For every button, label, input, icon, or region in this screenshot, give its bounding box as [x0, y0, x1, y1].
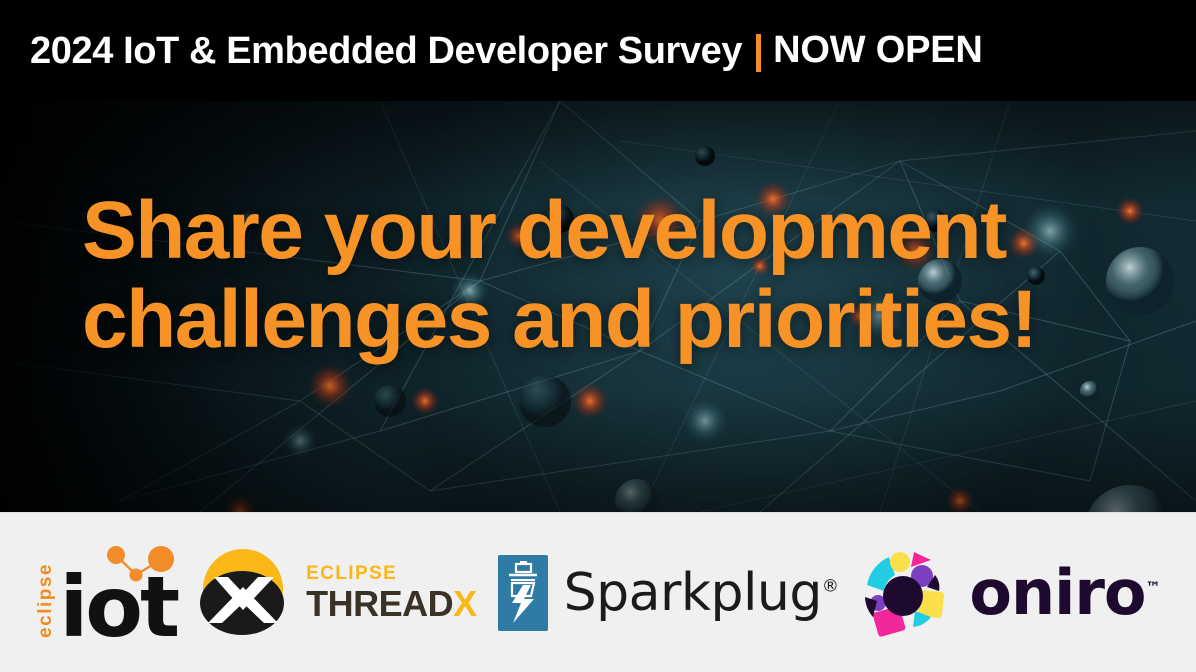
- logo-sparkplug[interactable]: Sparkplug®: [498, 555, 839, 631]
- header-divider-icon: [756, 34, 761, 72]
- threadx-main-word: THREAD: [306, 583, 453, 624]
- sparkplug-main-word: Sparkplug: [564, 563, 822, 623]
- headline-line-2: challenges and priorities!: [82, 276, 1036, 365]
- page-title: 2024 IoT & Embedded Developer Survey: [30, 32, 742, 70]
- sparkplug-trademark: ®: [822, 576, 839, 596]
- oniro-trademark: ™: [1146, 578, 1160, 596]
- eclipse-iot-eclipse-word: eclipse: [36, 563, 55, 638]
- header-bar: 2024 IoT & Embedded Developer Survey NOW…: [0, 0, 1196, 101]
- sparkplug-icon: [498, 555, 548, 631]
- threadx-accent-letter: X: [453, 583, 477, 624]
- hero-section: Share your development challenges and pr…: [0, 101, 1196, 512]
- sponsor-logo-bar: eclipse iot ECLIPSE THR: [0, 512, 1196, 672]
- logo-eclipse-iot[interactable]: eclipse iot: [36, 544, 177, 642]
- oniro-wordmark: oniro™: [969, 562, 1159, 624]
- headline-line-1: Share your development: [82, 187, 1036, 276]
- hero-headline: Share your development challenges and pr…: [82, 187, 1036, 364]
- oniro-mosaic-icon: [859, 547, 951, 639]
- status-badge: NOW OPEN: [773, 29, 983, 72]
- sparkplug-wordmark: Sparkplug®: [564, 567, 839, 619]
- iot-network-icon: [102, 542, 180, 586]
- survey-banner: 2024 IoT & Embedded Developer Survey NOW…: [0, 0, 1196, 672]
- logo-oniro[interactable]: oniro™: [859, 547, 1159, 639]
- threadx-wordmark: THREADX: [306, 586, 477, 622]
- oniro-main-word: oniro: [969, 556, 1145, 629]
- threadx-emblem-icon: [198, 547, 294, 639]
- threadx-eclipse-word: ECLIPSE: [306, 564, 477, 583]
- logo-eclipse-threadx[interactable]: ECLIPSE THREADX: [198, 547, 477, 639]
